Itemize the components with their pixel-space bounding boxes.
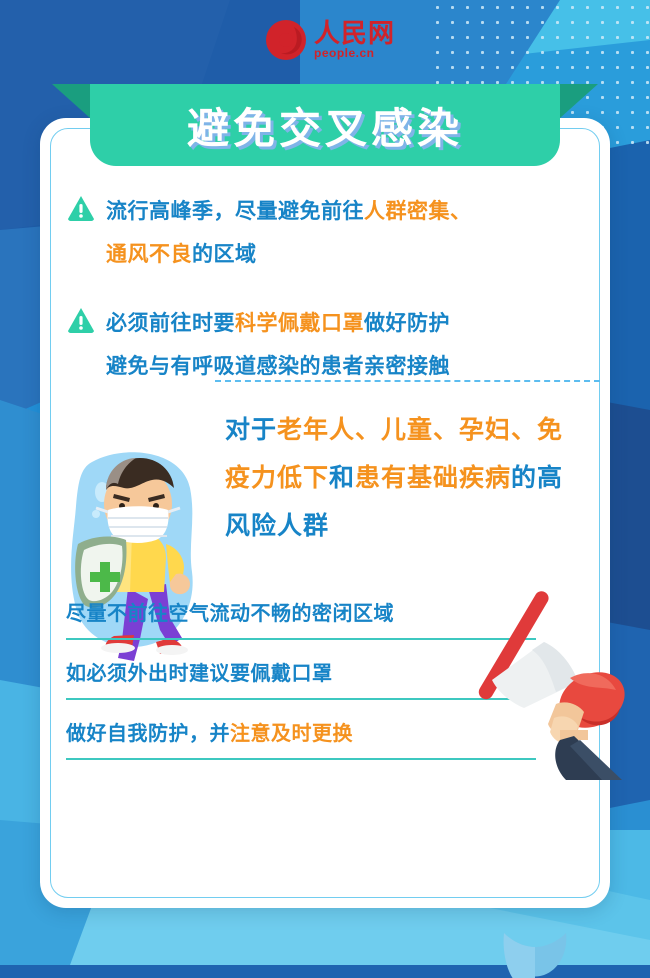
page-title: 避免交叉感染 <box>187 95 463 156</box>
people-cn-logo: 人民网 people.cn <box>264 18 395 62</box>
ribbon-fold-left <box>52 84 90 118</box>
logo-text-cn: 人民网 <box>314 20 395 46</box>
bullet2-highlight1: 科学佩戴口罩 <box>235 312 364 335</box>
bullet-text-1: 流行高峰季，尽量避免前往人群密集、 通风不良的区域 <box>106 190 472 276</box>
middle-plain-1: 对于 <box>225 416 277 444</box>
bullet2-plain1: 必须前往时要 <box>106 312 235 335</box>
dashed-divider <box>215 380 600 382</box>
bottom-line-3: 做好自我防护，并注意及时更换 <box>66 714 536 760</box>
ribbon-banner: 避免交叉感染 <box>90 84 560 166</box>
bullet1-highlight2: 通风不良 <box>106 243 192 266</box>
bottom-line-1-text: 尽量不前往空气流动不畅的密闭区域 <box>66 603 394 625</box>
bullet1-plain2: 的区域 <box>192 243 257 266</box>
middle-text-block: 对于老年人、儿童、孕妇、免疫力低下和患有基础疾病的高风险人群 <box>225 406 565 550</box>
people-cn-logo-icon <box>264 18 308 62</box>
bullet-item-2: 必须前往时要科学佩戴口罩做好防护 避免与有呼吸道感染的患者亲密接触 <box>66 302 584 388</box>
bottom-line-2: 如必须外出时建议要佩戴口罩 <box>66 654 536 700</box>
bullet2-line2: 避免与有呼吸道感染的患者亲密接触 <box>106 355 450 378</box>
poster-card: 流行高峰季，尽量避免前往人群密集、 通风不良的区域 必须前往时要科学佩戴口罩做好… <box>40 118 610 908</box>
bullet1-highlight1: 人群密集、 <box>364 200 472 223</box>
ribbon-fold-right <box>560 84 598 118</box>
warning-triangle-icon <box>66 306 96 334</box>
bullet-item-1: 流行高峰季，尽量避免前往人群密集、 通风不良的区域 <box>66 190 584 276</box>
middle-plain-2: 和 <box>329 464 355 492</box>
bullet-text-2: 必须前往时要科学佩戴口罩做好防护 避免与有呼吸道感染的患者亲密接触 <box>106 302 450 388</box>
megaphone-in-hand-illustration <box>470 580 650 780</box>
warning-triangle-icon <box>66 194 96 222</box>
bullet1-plain1: 流行高峰季，尽量避免前往 <box>106 200 364 223</box>
bottom-line-1: 尽量不前往空气流动不畅的密闭区域 <box>66 594 536 640</box>
surgical-mask-icon <box>500 923 570 978</box>
bottom-line-3-highlight: 注意及时更换 <box>230 723 353 745</box>
bullet2-plain2: 做好防护 <box>364 312 450 335</box>
logo-text-en: people.cn <box>314 46 375 60</box>
title-ribbon: 避免交叉感染 <box>0 84 650 170</box>
middle-highlight-2: 患有基础疾病 <box>355 464 511 492</box>
bottom-line-2-text: 如必须外出时建议要佩戴口罩 <box>66 663 333 685</box>
bottom-lines-group: 尽量不前往空气流动不畅的密闭区域 如必须外出时建议要佩戴口罩 做好自我防护，并注… <box>66 594 536 774</box>
bottom-line-3-text: 做好自我防护，并 <box>66 723 230 745</box>
